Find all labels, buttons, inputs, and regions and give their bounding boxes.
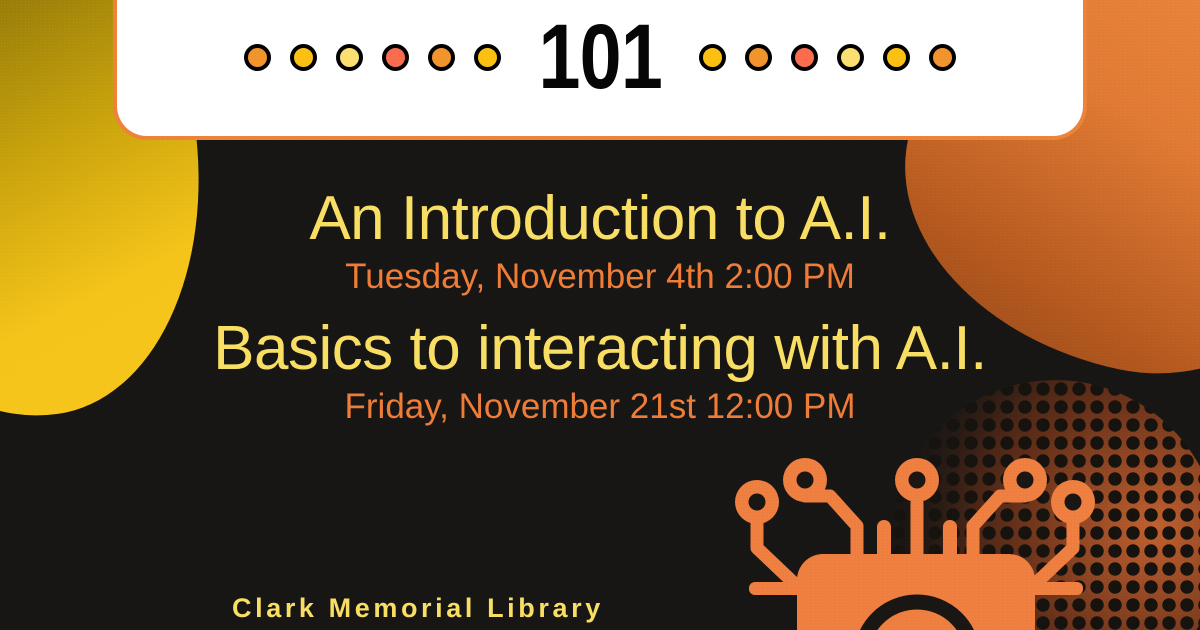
sessions-list: An Introduction to A.I. Tuesday, Novembe… (0, 186, 1200, 426)
session-title: Basics to interacting with A.I. (0, 316, 1200, 382)
dot (883, 44, 910, 71)
course-number: 101 (538, 18, 661, 96)
dot (791, 44, 818, 71)
header-dots-row: 101 (117, 18, 1083, 96)
dot (929, 44, 956, 71)
footer: Clark Memorial Library (232, 593, 604, 624)
dot (837, 44, 864, 71)
ai-robot-circuit-icon (735, 458, 1095, 630)
dot (428, 44, 455, 71)
dot (382, 44, 409, 71)
session-item: Basics to interacting with A.I. Friday, … (0, 316, 1200, 426)
session-item: An Introduction to A.I. Tuesday, Novembe… (0, 186, 1200, 296)
dots-left-group (244, 44, 501, 71)
dot (474, 44, 501, 71)
dot (336, 44, 363, 71)
session-date: Friday, November 21st 12:00 PM (0, 388, 1200, 427)
organization-name: Clark Memorial Library (232, 593, 604, 624)
dot (244, 44, 271, 71)
dots-right-group (699, 44, 956, 71)
poster-canvas: COMPUTER SKILLS 101 An Intr (0, 0, 1200, 630)
dot (699, 44, 726, 71)
dot (290, 44, 317, 71)
session-date: Tuesday, November 4th 2:00 PM (0, 258, 1200, 297)
dot (745, 44, 772, 71)
session-title: An Introduction to A.I. (0, 186, 1200, 252)
header-card: COMPUTER SKILLS 101 (113, 0, 1087, 140)
